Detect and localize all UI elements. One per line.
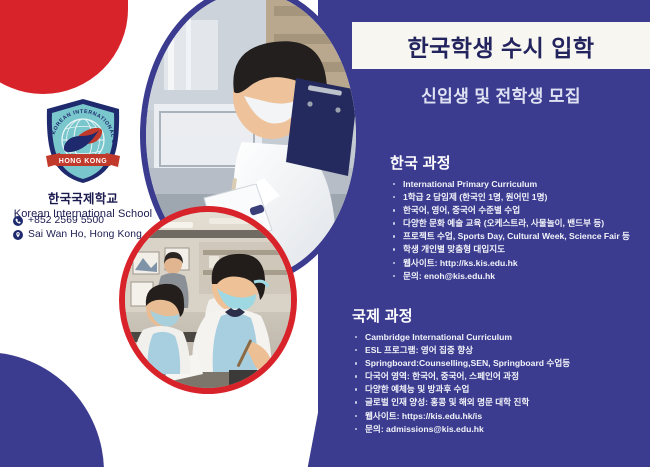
school-crest-icon: KOREAN INTERNATIONAL SCHOOL HONG KONG [40, 96, 126, 186]
list-item: 다양한 문화 예술 교육 (오케스트라, 사물놀이, 밴드부 등) [390, 217, 648, 230]
list-item: 한국어, 영어, 중국어 수준별 수업 [390, 204, 648, 217]
decor-red-circle-top-left [0, 0, 128, 94]
list-item-text: 프로젝트 수업, Sports Day, Cultural Week, Scie… [403, 231, 630, 241]
list-item: 웹사이트: http://ks.kis.edu.hk [390, 257, 648, 270]
list-item-text[interactable]: 웹사이트: https://kis.edu.hk/is [365, 411, 482, 421]
curriculum-korean: 한국 과정 International Primary Curriculum 1… [390, 152, 648, 283]
list-item-text: Cambridge International Curriculum [365, 332, 512, 342]
list-item: 학생 개인별 맞춤형 대입지도 [390, 243, 648, 256]
list-item: 글로벌 인재 양성: 홍콩 및 해외 명문 대학 진학 [352, 396, 648, 409]
list-item: 1학급 2 담임제 (한국인 1명, 원어민 1명) [390, 191, 648, 204]
page-title: 한국학생 수시 입학 [407, 29, 594, 63]
bullet-icon [355, 415, 357, 417]
list-item: Cambridge International Curriculum [352, 331, 648, 344]
list-item-text[interactable]: 문의: enoh@kis.edu.hk [403, 271, 495, 281]
list-item-text: 다양한 예체능 및 방과후 수업 [365, 384, 469, 394]
curriculum-international: 국제 과정 Cambridge International Curriculum… [352, 305, 648, 436]
bullet-icon [393, 183, 395, 185]
list-item-text[interactable]: 웹사이트: http://ks.kis.edu.hk [403, 258, 518, 268]
list-item: Springboard:Counselling,SEN, Springboard… [352, 357, 648, 370]
list-item-text: 1학급 2 담임제 (한국인 1명, 원어민 1명) [403, 192, 547, 202]
bullet-icon [355, 401, 357, 403]
bullet-icon [393, 262, 395, 264]
curriculum-international-heading: 국제 과정 [352, 305, 648, 326]
list-item: 문의: admissions@kis.edu.hk [352, 423, 648, 436]
contact-location-text: Sai Wan Ho, Hong Kong [28, 229, 142, 240]
list-item-text: 학생 개인별 맞춤형 대입지도 [403, 244, 505, 254]
list-item: International Primary Curriculum [390, 178, 648, 191]
curriculum-korean-list: International Primary Curriculum 1학급 2 담… [390, 178, 648, 283]
bullet-icon [355, 388, 357, 390]
list-item: 다양한 예체능 및 방과후 수업 [352, 383, 648, 396]
poster-title-band: 한국학생 수시 입학 [352, 22, 650, 69]
curriculum-korean-heading: 한국 과정 [390, 152, 648, 173]
bullet-icon [393, 222, 395, 224]
bullet-icon [355, 375, 357, 377]
bullet-icon [393, 248, 395, 250]
list-item-text: ESL 프로그램: 영어 집중 향상 [365, 345, 473, 355]
list-item: 문의: enoh@kis.edu.hk [390, 270, 648, 283]
list-item: ESL 프로그램: 영어 집중 향상 [352, 344, 648, 357]
decor-navy-shape-bottom-left [0, 352, 104, 467]
bullet-icon [355, 349, 357, 351]
list-item-text[interactable]: 문의: admissions@kis.edu.hk [365, 424, 484, 434]
list-item: 웹사이트: https://kis.edu.hk/is [352, 410, 648, 423]
poster-root: KOREAN INTERNATIONAL SCHOOL HONG KONG [0, 0, 650, 467]
poster-subtitle: 신입생 및 전학생 모집 [352, 82, 650, 107]
bullet-icon [393, 235, 395, 237]
contact-phone-text: +852 2569 5500 [28, 215, 104, 226]
contact-phone-row: +852 2569 5500 [13, 215, 193, 226]
list-item-text: 다양한 문화 예술 교육 (오케스트라, 사물놀이, 밴드부 등) [403, 218, 604, 228]
svg-text:HONG KONG: HONG KONG [59, 158, 108, 165]
bullet-icon [393, 209, 395, 211]
contact-location-row: Sai Wan Ho, Hong Kong [13, 229, 193, 240]
brand-name-ko: 한국국제학교 [8, 192, 158, 207]
bullet-icon [393, 275, 395, 277]
phone-icon [13, 216, 23, 226]
bullet-icon [355, 336, 357, 338]
list-item: 프로젝트 수업, Sports Day, Cultural Week, Scie… [390, 230, 648, 243]
bullet-icon [393, 196, 395, 198]
brand-block: KOREAN INTERNATIONAL SCHOOL HONG KONG [8, 96, 158, 221]
curriculum-international-list: Cambridge International Curriculum ESL 프… [352, 331, 648, 436]
list-item-text: 글로벌 인재 양성: 홍콩 및 해외 명문 대학 진학 [365, 397, 529, 407]
list-item: 다국어 영역: 한국어, 중국어, 스페인어 과정 [352, 370, 648, 383]
list-item-text: International Primary Curriculum [403, 179, 537, 189]
list-item-text: 다국어 영역: 한국어, 중국어, 스페인어 과정 [365, 371, 519, 381]
bullet-icon [355, 428, 357, 430]
list-item-text: 한국어, 영어, 중국어 수준별 수업 [403, 205, 520, 215]
bullet-icon [355, 362, 357, 364]
location-pin-icon [13, 230, 23, 240]
list-item-text: Springboard:Counselling,SEN, Springboard… [365, 358, 570, 368]
contact-block: +852 2569 5500 Sai Wan Ho, Hong Kong [13, 215, 193, 243]
